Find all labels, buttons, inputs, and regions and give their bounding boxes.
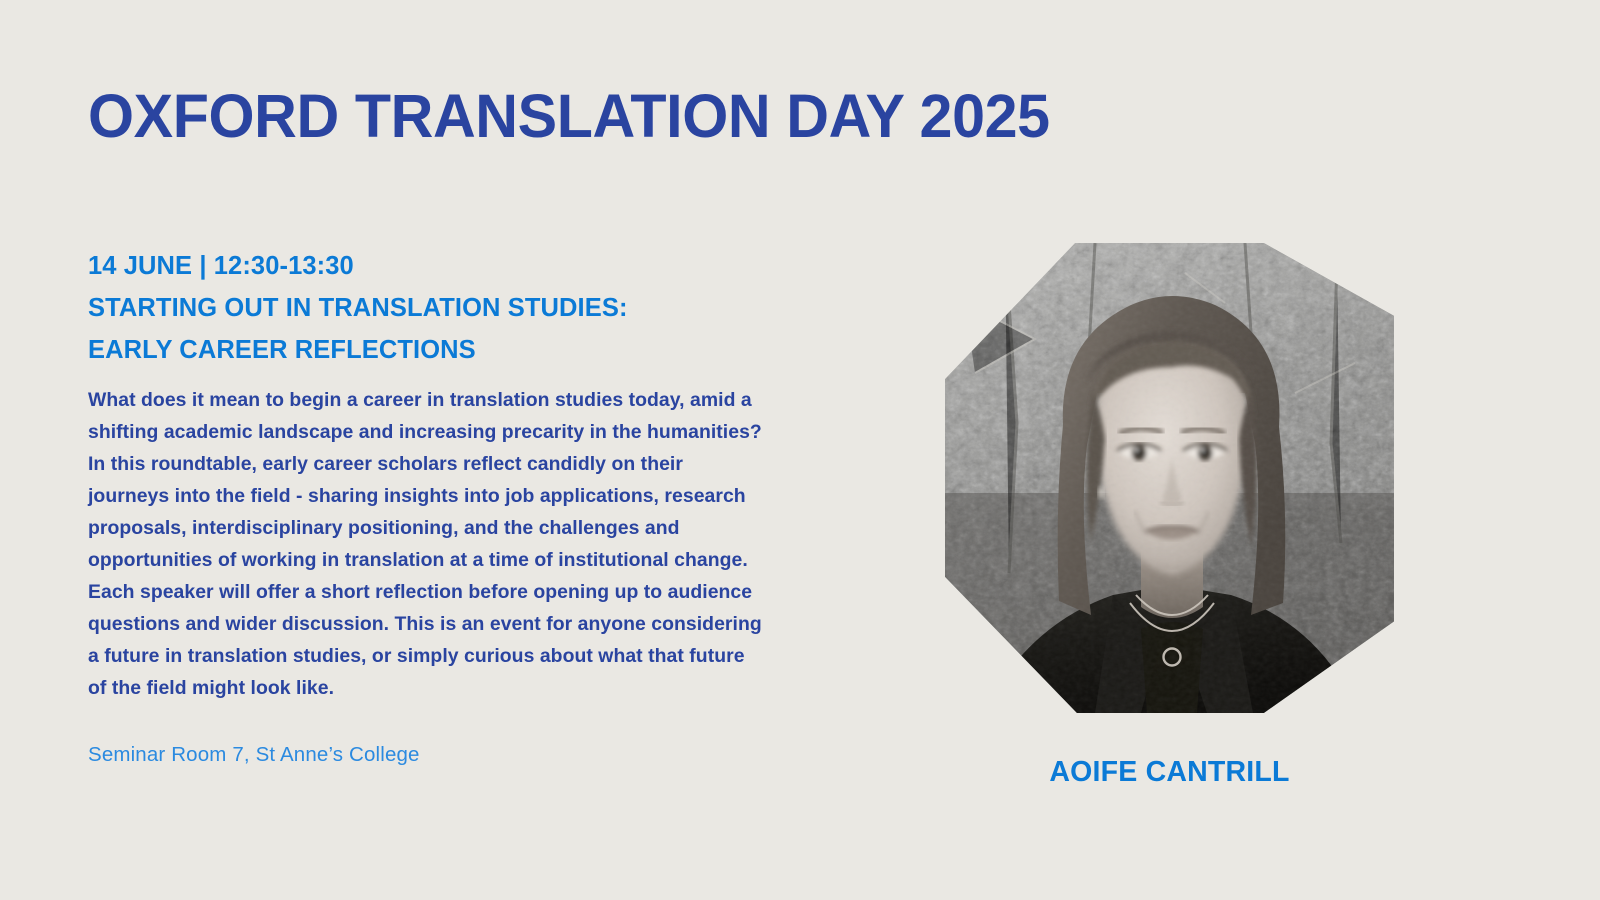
event-description: What does it mean to begin a career in t… [88,384,768,704]
event-date-time: 14 JUNE | 12:30-13:30 [88,245,778,287]
poster-canvas: OXFORD TRANSLATION DAY 2025 14 JUNE | 12… [0,0,1600,900]
page-title: OXFORD TRANSLATION DAY 2025 [88,84,1050,150]
speaker-name: AOIFE CANTRILL [945,755,1394,789]
event-venue: Seminar Room 7, St Anne’s College [88,742,778,768]
session-title-line-2: EARLY CAREER REFLECTIONS [88,329,778,371]
portrait-photo-icon [945,243,1394,713]
session-title-line-1: STARTING OUT IN TRANSLATION STUDIES: [88,287,778,329]
event-details-column: 14 JUNE | 12:30-13:30 STARTING OUT IN TR… [88,245,778,768]
event-heading-block: 14 JUNE | 12:30-13:30 STARTING OUT IN TR… [88,245,778,371]
speaker-portrait [945,243,1394,713]
octagon-frame [945,243,1394,713]
